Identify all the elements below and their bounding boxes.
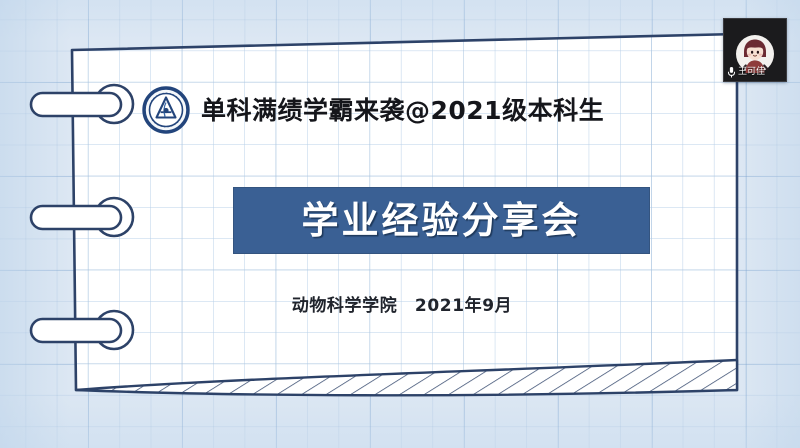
header-row: 单科满绩学霸来袭@2021级本科生	[142, 86, 604, 134]
footer-text: 动物科学学院 2021年9月	[292, 296, 513, 316]
title-banner-text: 学业经验分享会	[302, 202, 582, 239]
slide-stage: 单科满绩学霸来袭@2021级本科生 学业经验分享会 动物科学学院 2021年9月	[0, 0, 800, 448]
title-banner: 学业经验分享会	[233, 187, 650, 254]
footer-line: 动物科学学院 2021年9月	[0, 298, 800, 316]
participant-name: 王可佳	[738, 68, 765, 77]
tile-footer: 王可佳	[726, 66, 765, 78]
university-emblem-icon	[142, 86, 190, 134]
slide-headline: 单科满绩学霸来袭@2021级本科生	[201, 98, 604, 123]
video-participant-tile[interactable]: 王可佳	[723, 18, 787, 82]
slide-content: 单科满绩学霸来袭@2021级本科生 学业经验分享会 动物科学学院 2021年9月	[0, 0, 800, 448]
microphone-icon[interactable]	[726, 66, 737, 78]
